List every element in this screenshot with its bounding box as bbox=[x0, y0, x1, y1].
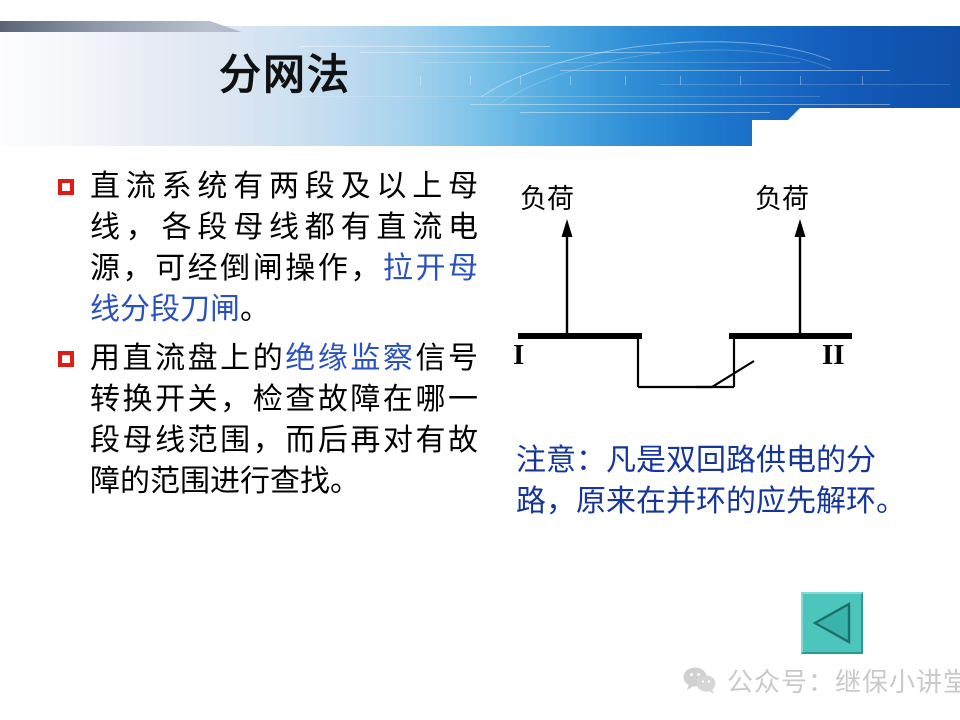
banner-streak bbox=[300, 46, 550, 47]
list-item: 直流系统有两段及以上母线，各段母线都有直流电源，可经倒闸操作，拉开母线分段刀闸。 bbox=[58, 166, 478, 330]
load-arrow-right bbox=[795, 219, 806, 336]
banner-white-top bbox=[0, 0, 960, 22]
circuit-diagram: 负荷 负荷 I II bbox=[490, 175, 890, 405]
square-bullet-icon bbox=[58, 179, 74, 195]
wechat-icon bbox=[683, 666, 717, 694]
slide-canvas: 分网法 直流系统有两段及以上母线，各段母线都有直流电源，可经倒闸操作，拉开母线分… bbox=[0, 0, 960, 720]
bullet-1-segment-plain-b: 。 bbox=[240, 292, 270, 327]
square-bullet-icon bbox=[58, 351, 74, 367]
banner-notch bbox=[752, 120, 960, 146]
load-arrow-left bbox=[562, 219, 573, 336]
watermark: 公众号：继保小讲堂 bbox=[683, 660, 960, 700]
bullet-text-2: 用直流盘上的绝缘监察信号转换开关，检查故障在哪一段母线范围，而后再对有故障的范围… bbox=[90, 338, 478, 502]
bus-label-ii: II bbox=[822, 340, 845, 370]
bullet-2-segment-plain-a: 用直流盘上的 bbox=[90, 341, 285, 376]
list-item: 用直流盘上的绝缘监察信号转换开关，检查故障在哪一段母线范围，而后再对有故障的范围… bbox=[58, 338, 478, 502]
bullet-list: 直流系统有两段及以上母线，各段母线都有直流电源，可经倒闸操作，拉开母线分段刀闸。… bbox=[58, 166, 478, 510]
page-title: 分网法 bbox=[0, 50, 960, 100]
back-button[interactable] bbox=[801, 592, 863, 654]
note-text: 注意：凡是双回路供电的分路，原来在并环的应先解环。 bbox=[516, 440, 916, 522]
bus-label-i: I bbox=[513, 340, 524, 370]
bullet-2-segment-highlight: 绝缘监察 bbox=[285, 341, 415, 376]
load-label-right: 负荷 bbox=[755, 185, 809, 215]
triangle-left-icon bbox=[812, 602, 852, 644]
watermark-text: 公众号：继保小讲堂 bbox=[727, 662, 960, 699]
load-label-left: 负荷 bbox=[520, 185, 574, 215]
bullet-text-1: 直流系统有两段及以上母线，各段母线都有直流电源，可经倒闸操作，拉开母线分段刀闸。 bbox=[90, 166, 478, 330]
